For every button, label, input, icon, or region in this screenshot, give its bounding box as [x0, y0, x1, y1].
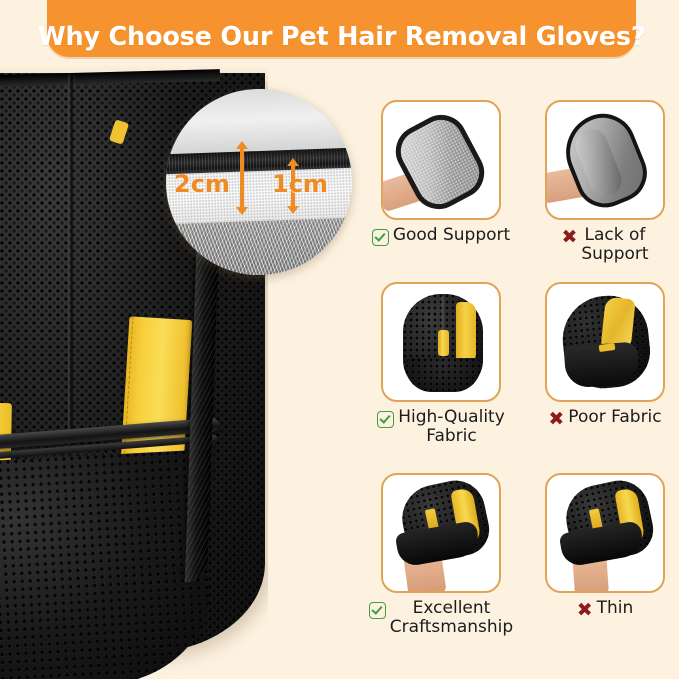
- glove-lower-panel: [0, 450, 214, 679]
- check-box-icon: [369, 602, 386, 619]
- page-title: Why Choose Our Pet Hair Removal Gloves?: [38, 22, 646, 52]
- feature-item-lack-of-support: ✖ Lack of Support: [530, 100, 679, 264]
- feature-label-good-support: Good Support: [366, 226, 516, 246]
- feature-label-excellent-craftsmanship: Excellent Craftsmanship: [366, 599, 516, 637]
- feature-image-card-excellent-craftsmanship: [381, 473, 501, 593]
- measurement-label-1cm: 1cm: [272, 170, 328, 198]
- feature-label-text: Poor Fabric: [568, 408, 661, 427]
- header-banner: Why Choose Our Pet Hair Removal Gloves?: [47, 0, 636, 57]
- feature-item-high-quality-fabric: High-Quality Fabric: [366, 282, 516, 446]
- feature-label-text: Thin: [597, 599, 634, 618]
- feature-image-card-thin: [545, 473, 665, 593]
- check-box-icon: [372, 229, 389, 246]
- feature-label-text: Excellent Craftsmanship: [390, 599, 513, 637]
- feature-label-text: Good Support: [393, 226, 510, 245]
- measurement-label-2cm: 2cm: [174, 170, 230, 198]
- feature-item-poor-fabric: ✖ Poor Fabric: [530, 282, 679, 429]
- feature-label-thin: ✖ Thin: [530, 599, 679, 620]
- cross-icon: ✖: [548, 410, 564, 429]
- feature-image-card-poor-fabric: [545, 282, 665, 402]
- feature-item-good-support: Good Support: [366, 100, 516, 246]
- feature-label-text: Lack of Support: [581, 226, 648, 264]
- feature-label-poor-fabric: ✖ Poor Fabric: [530, 408, 679, 429]
- lower-panel-mesh-texture: [0, 450, 214, 679]
- glove-vertical-seam: [68, 73, 75, 445]
- feature-label-high-quality-fabric: High-Quality Fabric: [366, 408, 516, 446]
- magnifier-circle: 2cm 1cm: [166, 89, 352, 275]
- feature-label-lack-of-support: ✖ Lack of Support: [530, 226, 679, 264]
- magnifier-fuzz-layer: [166, 217, 352, 275]
- cross-icon: ✖: [561, 228, 577, 247]
- check-box-icon: [377, 411, 394, 428]
- feature-image-card-good-support: [381, 100, 501, 220]
- infographic-page: Why Choose Our Pet Hair Removal Gloves?: [0, 0, 679, 679]
- measure-arrow-2cm-icon: [240, 148, 244, 208]
- feature-item-excellent-craftsmanship: Excellent Craftsmanship: [366, 473, 516, 637]
- mitt-cuff: [405, 358, 481, 392]
- feature-comparison-grid: Good Support ✖ Lack of Support: [366, 100, 679, 660]
- yellow-side-panel: [456, 302, 476, 364]
- feature-item-thin: ✖ Thin: [530, 473, 679, 620]
- feature-label-text: High-Quality Fabric: [398, 408, 505, 446]
- cross-icon: ✖: [577, 601, 593, 620]
- grey-floppy-mitt-illustration: [554, 104, 655, 216]
- feature-image-card-lack-of-support: [545, 100, 665, 220]
- feature-image-card-high-quality-fabric: [381, 282, 501, 402]
- mitt-center-seam: [441, 296, 444, 358]
